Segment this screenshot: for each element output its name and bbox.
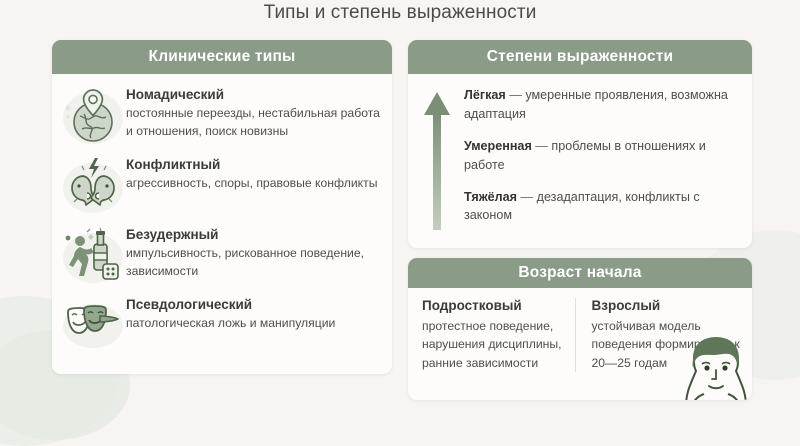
clinical-type-description: патологическая ложь и манипуляции bbox=[126, 315, 382, 332]
clinical-type-description: агрессивность, споры, правовые конфликты bbox=[126, 175, 382, 192]
severity-dash: — bbox=[532, 139, 552, 153]
globe-pin-icon bbox=[60, 84, 126, 146]
age-column-description: протестное поведение, нарушения дисципли… bbox=[422, 317, 571, 372]
page-title: Типы и степень выраженности bbox=[0, 2, 800, 24]
severity-levels-card: Степени выраженности Лёгкая — умеренные … bbox=[408, 40, 752, 248]
clinical-type-title: Номадический bbox=[126, 87, 382, 103]
age-of-onset-card: Возраст начала Подростковый протестное п… bbox=[408, 258, 752, 400]
age-column-title: Взрослый bbox=[592, 298, 741, 313]
clinical-type-title: Псевдологический bbox=[126, 297, 382, 313]
clinical-type-description: импульсивность, рискованное поведение, з… bbox=[126, 245, 382, 280]
list-item: Номадический постоянные переезды, нестаб… bbox=[52, 80, 392, 150]
up-arrow-icon bbox=[422, 86, 458, 232]
clinical-types-header: Клинические типы bbox=[52, 40, 392, 74]
clinical-type-title: Конфликтный bbox=[126, 157, 382, 173]
clinical-type-text: Псевдологический патологическая ложь и м… bbox=[126, 294, 382, 333]
age-column-title: Подростковый bbox=[422, 298, 571, 313]
running-man-bottle-dice-icon bbox=[60, 224, 126, 286]
age-body: Подростковый протестное поведение, наруш… bbox=[408, 288, 752, 372]
list-item: Лёгкая — умеренные проявления, возможна … bbox=[464, 86, 740, 124]
age-column-adolescent: Подростковый протестное поведение, наруш… bbox=[422, 298, 571, 372]
clinical-types-card: Клинические типы Номадический постоян bbox=[52, 40, 392, 374]
severity-dash: — bbox=[506, 88, 526, 102]
list-item: Псевдологический патологическая ложь и м… bbox=[52, 290, 392, 360]
severity-list: Лёгкая — умеренные проявления, возможна … bbox=[458, 86, 740, 232]
severity-dash: — bbox=[517, 190, 537, 204]
list-item: Тяжёлая — дезадаптация, конфликты с зако… bbox=[464, 188, 740, 226]
arguing-heads-lightning-icon bbox=[60, 154, 126, 216]
list-item: Безудержный импульсивность, рискованное … bbox=[52, 220, 392, 290]
clinical-type-text: Безудержный импульсивность, рискованное … bbox=[126, 224, 382, 280]
clinical-type-description: постоянные переезды, нестабильная работа… bbox=[126, 105, 382, 140]
clinical-type-text: Номадический постоянные переезды, нестаб… bbox=[126, 84, 382, 140]
severity-level-label: Умеренная bbox=[464, 139, 532, 153]
theater-masks-long-nose-icon bbox=[60, 294, 126, 356]
list-item: Конфликтный агрессивность, споры, правов… bbox=[52, 150, 392, 220]
severity-levels-header: Степени выраженности bbox=[408, 40, 752, 74]
clinical-types-list: Номадический постоянные переезды, нестаб… bbox=[52, 74, 392, 360]
man-face-icon bbox=[676, 326, 752, 400]
list-item: Умеренная — проблемы в отношениях и рабо… bbox=[464, 137, 740, 175]
severity-body: Лёгкая — умеренные проявления, возможна … bbox=[408, 74, 752, 240]
clinical-type-title: Безудержный bbox=[126, 227, 382, 243]
severity-level-label: Лёгкая bbox=[464, 88, 506, 102]
clinical-type-text: Конфликтный агрессивность, споры, правов… bbox=[126, 154, 382, 193]
severity-level-label: Тяжёлая bbox=[464, 190, 517, 204]
age-of-onset-header: Возраст начала bbox=[408, 258, 752, 288]
